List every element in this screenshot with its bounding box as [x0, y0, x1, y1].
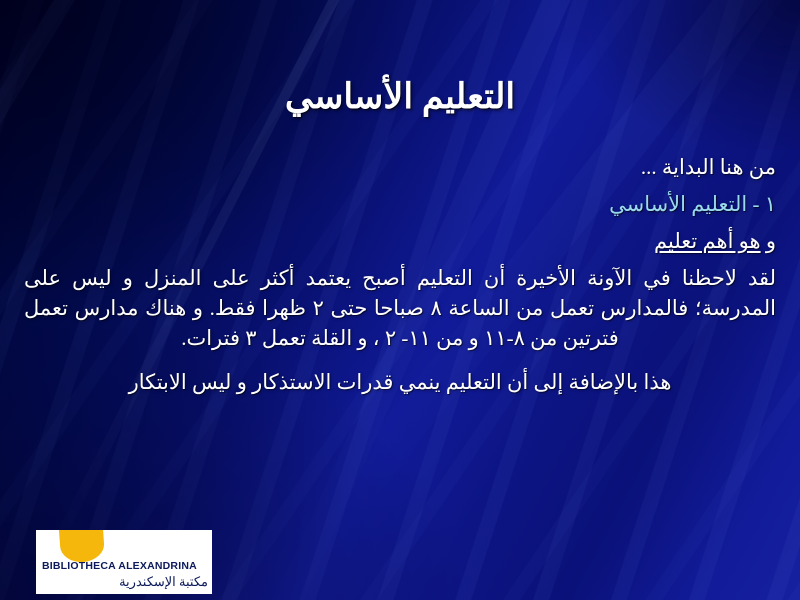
slide-body: من هنا البداية ... ١ - التعليم الأساسي و… — [24, 152, 776, 418]
emphasis-underlined: هو أهم تعليم — [654, 229, 761, 253]
body-line-intro: من هنا البداية ... — [24, 152, 776, 182]
body-paragraph: لقد لاحظنا في الآونة الأخيرة أن التعليم … — [24, 263, 776, 353]
body-paragraph-tail: هذا بالإضافة إلى أن التعليم ينمي قدرات ا… — [24, 367, 776, 397]
body-line-emphasis: و هو أهم تعليم — [24, 226, 776, 256]
background-vignette — [560, 0, 800, 150]
slide-title: التعليم الأساسي — [0, 77, 800, 117]
logo-arabic-name: مكتبة الإسكندرية — [119, 574, 208, 590]
logo-latin-name: BIBLIOTHECA ALEXANDRINA — [42, 560, 197, 572]
body-line-item-1: ١ - التعليم الأساسي — [24, 189, 776, 219]
slide-canvas: التعليم الأساسي من هنا البداية ... ١ - ا… — [0, 0, 800, 600]
bibliotheca-alexandrina-logo: BIBLIOTHECA ALEXANDRINA مكتبة الإسكندرية — [36, 530, 212, 594]
emphasis-prefix: و — [761, 229, 776, 253]
